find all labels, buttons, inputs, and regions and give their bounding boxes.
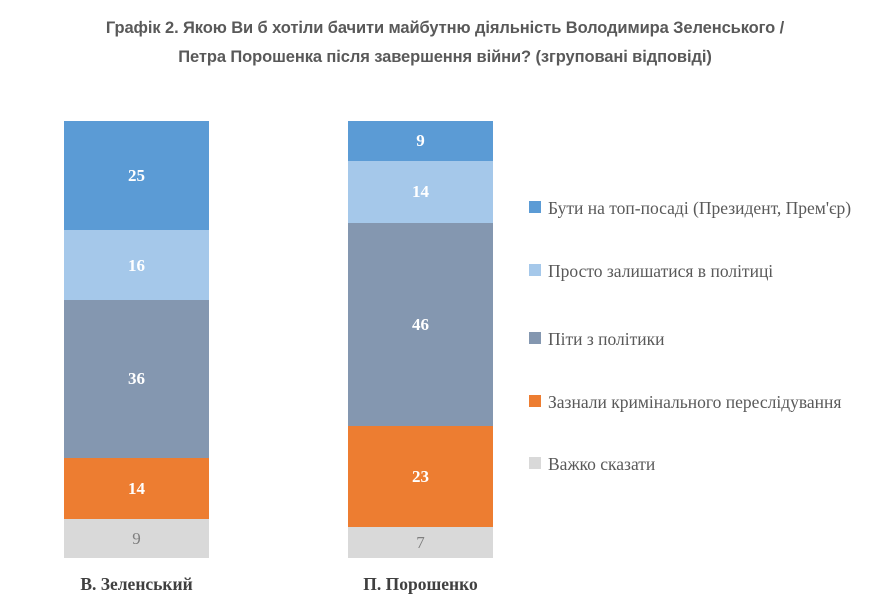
bar-segment[interactable]: 14	[348, 161, 493, 223]
bar-segment-value-label: 9	[132, 530, 141, 547]
bar-stack: 251636149	[64, 121, 209, 558]
bar-segment[interactable]: 7	[348, 527, 493, 558]
bar-segment[interactable]: 16	[64, 230, 209, 300]
bar-segment[interactable]: 46	[348, 223, 493, 426]
legend-item-label: Просто залишатися в політиці	[548, 259, 773, 284]
bar-segment-value-label: 36	[128, 370, 145, 387]
chart-container: Графік 2. Якою Ви б хотіли бачити майбут…	[0, 0, 891, 615]
bar-segment[interactable]: 23	[348, 426, 493, 528]
legend-swatch-icon	[529, 395, 541, 407]
legend-item[interactable]: Важко сказати	[529, 452, 655, 477]
bar-stack: 91446237	[348, 121, 493, 558]
legend-item[interactable]: Піти з політики	[529, 327, 665, 352]
legend-item-label: Важко сказати	[548, 452, 655, 477]
bar-segment[interactable]: 9	[64, 519, 209, 558]
legend-item-label: Зазнали кримінального переслідування	[548, 390, 841, 415]
bar-segment-value-label: 25	[128, 167, 145, 184]
legend-swatch-icon	[529, 201, 541, 213]
bar-segment-value-label: 7	[416, 534, 425, 551]
bar-column: 251636149В. Зеленський	[64, 121, 209, 558]
bar-segment-value-label: 46	[412, 316, 429, 333]
category-axis-label: П. Порошенко	[348, 574, 493, 595]
legend-item[interactable]: Бути на топ-посаді (Президент, Прем'єр)	[529, 196, 851, 221]
legend-item[interactable]: Зазнали кримінального переслідування	[529, 390, 841, 415]
bar-segment-value-label: 9	[416, 132, 425, 149]
legend-item-label: Піти з політики	[548, 327, 665, 352]
bar-segment[interactable]: 36	[64, 300, 209, 457]
bar-segment-value-label: 14	[412, 183, 429, 200]
bar-column: 91446237П. Порошенко	[348, 121, 493, 558]
legend-swatch-icon	[529, 457, 541, 469]
bar-segment-value-label: 23	[412, 468, 429, 485]
legend-swatch-icon	[529, 332, 541, 344]
category-axis-label: В. Зеленський	[64, 574, 209, 595]
plot-area: 251636149В. Зеленський91446237П. Порошен…	[0, 0, 520, 615]
bar-segment-value-label: 14	[128, 480, 145, 497]
bar-segment[interactable]: 25	[64, 121, 209, 230]
bar-segment[interactable]: 9	[348, 121, 493, 161]
legend-item-label: Бути на топ-посаді (Президент, Прем'єр)	[548, 196, 851, 221]
legend-swatch-icon	[529, 264, 541, 276]
bar-segment-value-label: 16	[128, 257, 145, 274]
legend-item[interactable]: Просто залишатися в політиці	[529, 259, 773, 284]
bar-segment[interactable]: 14	[64, 458, 209, 519]
